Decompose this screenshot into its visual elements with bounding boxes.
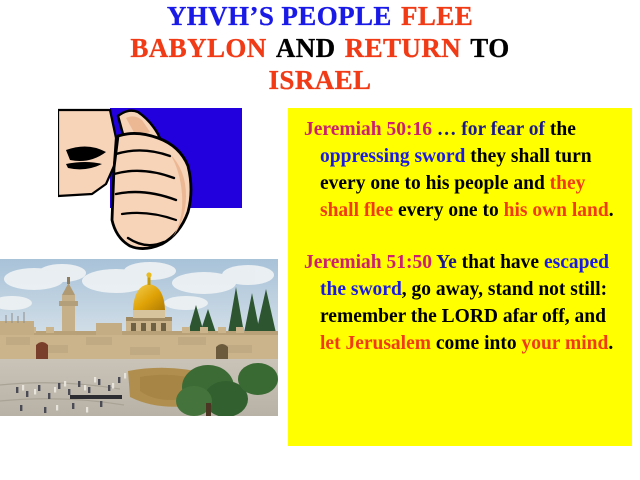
verse-text-run: his own land [504,200,609,221]
verse-text-run: come into [431,333,521,354]
verse-text-run: that have [457,252,544,273]
verse-text-run: Jeremiah 51:50 [304,252,432,273]
verse-text-run: … for fear of [437,119,545,140]
verse-text-run: your mind [521,333,608,354]
jerusalem-photo-graphic [0,259,278,416]
jerusalem-western-wall-photo [0,259,278,416]
title-word: TO [469,33,510,63]
slide-title: YHVH’S PEOPLE FLEEBABYLON AND RETURN TOI… [0,0,640,96]
verse-text-run: every one to [393,200,503,221]
hand-pointing-icon [58,108,242,252]
title-word: FLEE [400,1,474,31]
title-word: YHVH’S PEOPLE [166,1,393,31]
title-line-3: ISRAEL [0,64,640,96]
verse-text-run: . [609,200,614,221]
verse-text-run: oppressing sword [320,146,465,167]
title-word: ISRAEL [268,65,373,95]
verse-text-run: the [545,119,576,140]
verse-text-run: Jeremiah 50:16 [304,119,432,140]
title-line-1: YHVH’S PEOPLE FLEE [0,0,640,32]
verse-text-run: . [608,333,613,354]
title-word: BABYLON [129,33,267,63]
title-line-2: BABYLON AND RETURN TO [0,32,640,64]
title-word: AND [275,33,337,63]
hand-pointing-clipart [58,108,242,252]
verse-text-run: Ye [436,252,457,273]
scripture-panel: Jeremiah 50:16 … for fear of the oppress… [288,108,632,446]
verse-jeremiah-51-50: Jeremiah 51:50 Ye that have escaped the … [296,249,622,357]
verse-jeremiah-50-16: Jeremiah 50:16 … for fear of the oppress… [296,116,622,224]
title-word: RETURN [344,33,462,63]
verse-text-run: let Jerusalem [320,333,431,354]
